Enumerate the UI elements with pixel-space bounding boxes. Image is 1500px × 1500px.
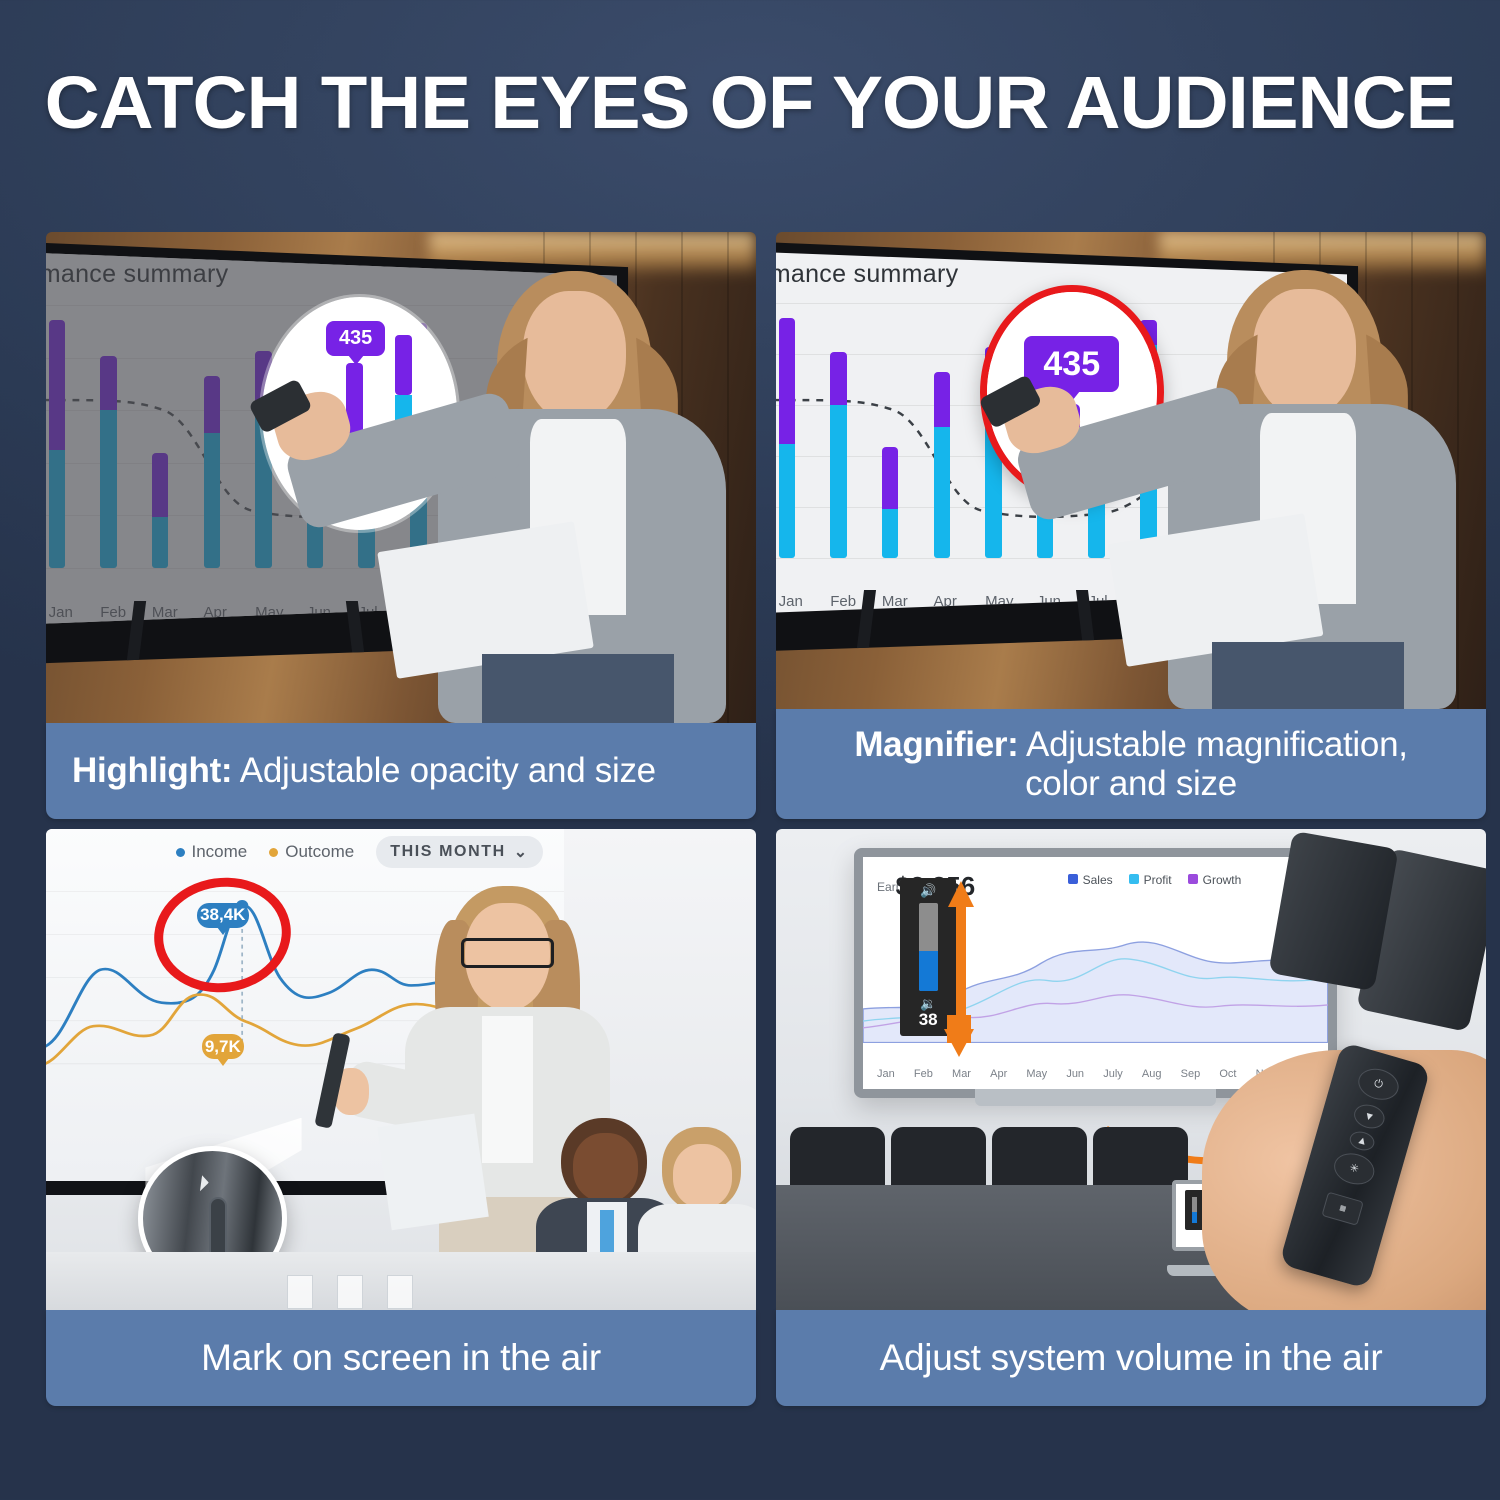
legend-label: Outcome xyxy=(285,842,354,861)
legend-item-sales: Sales xyxy=(1068,873,1113,887)
bar-jan xyxy=(779,310,796,558)
up-arrow-button-icon[interactable]: ▲ xyxy=(1347,1129,1376,1154)
month-label: Jan xyxy=(877,1068,895,1080)
volume-slider[interactable] xyxy=(919,903,938,991)
display-stand xyxy=(975,1089,1217,1105)
bar-feb xyxy=(830,310,847,558)
meeting-table xyxy=(46,1252,756,1310)
volume-level-value: 38 xyxy=(919,1010,938,1030)
outcome-value-tooltip: 9,7K xyxy=(202,1034,244,1059)
legend-label: Income xyxy=(192,842,248,861)
income-value-tooltip: 38,4K xyxy=(197,903,250,928)
month-label: Oct xyxy=(1219,1068,1236,1080)
laser-highlight-button-icon[interactable]: ✳ xyxy=(1330,1149,1377,1189)
month-label: Mar xyxy=(952,1068,971,1080)
legend-label: Growth xyxy=(1203,873,1242,887)
mark-on-screen-photo: Income Outcome THIS MONTH ⌄ xyxy=(46,829,756,1310)
caption-text-line2: color and size xyxy=(1025,764,1237,803)
month-label: Aug xyxy=(1142,1068,1162,1080)
caption-label: Magnifier: xyxy=(854,725,1018,764)
caption-volume: Adjust system volume in the air xyxy=(776,1310,1486,1406)
period-selector-value: THIS MONTH xyxy=(390,843,506,861)
caption-highlight: Highlight: Adjustable opacity and size xyxy=(46,723,756,819)
presenter-person xyxy=(1131,232,1486,709)
income-color-dot xyxy=(176,848,185,857)
caption-text: Adjustable opacity and size xyxy=(232,751,656,790)
marker-pen-icon xyxy=(198,1175,210,1193)
month-label: July xyxy=(1103,1068,1123,1080)
chart-title: ormance summary xyxy=(776,260,958,289)
legend-item-outcome: Outcome xyxy=(269,842,354,862)
month-label: Feb xyxy=(914,1068,933,1080)
legend-label: Sales xyxy=(1083,873,1113,887)
volume-slider-fill xyxy=(919,951,938,991)
growth-color-swatch xyxy=(1188,874,1198,884)
page-title: CATCH THE EYES OF YOUR AUDIENCE xyxy=(0,66,1500,140)
feature-grid: ormance summary xyxy=(46,232,1456,1406)
legend-item-profit: Profit xyxy=(1129,873,1172,887)
value-tooltip-magnified: 435 xyxy=(1024,336,1119,392)
month-label: Apr xyxy=(990,1068,1007,1080)
caption-magnifier: Magnifier: Adjustable magnification, col… xyxy=(776,709,1486,819)
down-arrow-button-icon[interactable]: ▼ xyxy=(1351,1102,1387,1133)
caption-text: Mark on screen in the air xyxy=(201,1337,601,1378)
profit-color-swatch xyxy=(1129,874,1139,884)
bar-mar xyxy=(882,310,899,558)
chevron-down-icon: ⌄ xyxy=(514,842,529,862)
feature-card-mark-on-screen: Income Outcome THIS MONTH ⌄ xyxy=(46,829,756,1406)
feature-card-highlight: ormance summary xyxy=(46,232,756,819)
month-label: Jun xyxy=(1066,1068,1084,1080)
volume-up-icon[interactable]: 🔊 xyxy=(920,884,936,897)
outcome-color-dot xyxy=(269,848,278,857)
month-label: Jan xyxy=(779,593,796,610)
chart-month-labels: Jan Feb Mar Apr May Jun July Aug Sep Oct… xyxy=(877,1068,1314,1080)
month-label: May xyxy=(1026,1068,1047,1080)
legend-item-income: Income xyxy=(176,842,248,862)
display-screen: Earnings $3,256 Sales Profit Growth Jan xyxy=(863,857,1328,1089)
volume-osd: 🔊 🔉 38 xyxy=(900,878,956,1036)
legend-label: Profit xyxy=(1144,873,1172,887)
highlight-photo: ormance summary xyxy=(46,232,756,723)
caption-mark-on-screen: Mark on screen in the air xyxy=(46,1310,756,1406)
volume-photo: Earnings $3,256 Sales Profit Growth Jan xyxy=(776,829,1486,1310)
magnifier-photo: ormance summary xyxy=(776,232,1486,709)
feature-card-magnifier: ormance summary xyxy=(776,232,1486,819)
power-button-icon[interactable]: ⏻ xyxy=(1354,1065,1401,1105)
bar-apr xyxy=(934,310,951,558)
caption-text: Adjust system volume in the air xyxy=(880,1337,1383,1378)
legend-item-growth: Growth xyxy=(1188,873,1242,887)
boardroom-display: Earnings $3,256 Sales Profit Growth Jan xyxy=(854,848,1337,1098)
presenter-person xyxy=(401,232,756,723)
chart-legend: Sales Profit Growth xyxy=(1068,873,1242,887)
value-tooltip: 435 xyxy=(326,321,385,356)
caption-text: Adjustable magnification, xyxy=(1019,725,1408,764)
keypad-icon[interactable]: ▦ xyxy=(1321,1192,1363,1227)
glasses-icon xyxy=(461,938,555,968)
feature-card-volume: Earnings $3,256 Sales Profit Growth Jan xyxy=(776,829,1486,1406)
volume-down-icon[interactable]: 🔉 xyxy=(920,997,936,1010)
sales-color-swatch xyxy=(1068,874,1078,884)
caption-label: Highlight: xyxy=(72,751,232,790)
month-label: Sep xyxy=(1181,1068,1201,1080)
